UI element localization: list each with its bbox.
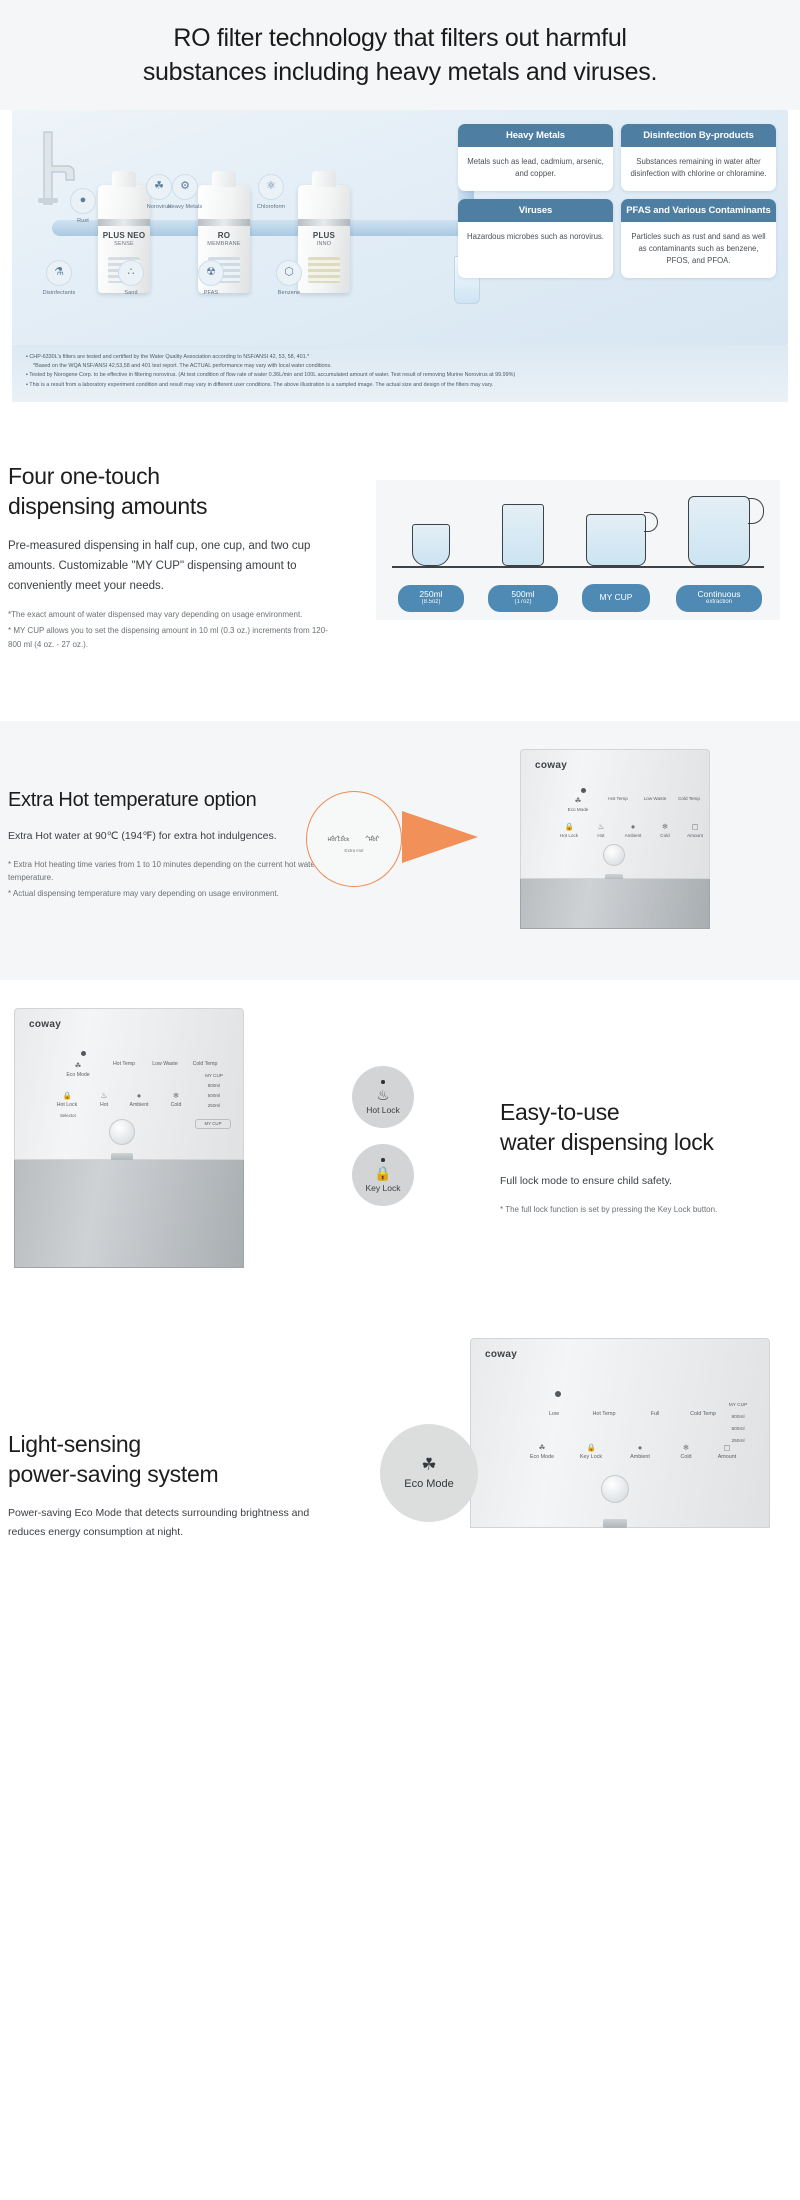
contaminant-label-benzene: Benzene	[254, 290, 324, 296]
lock-title-line-2: water dispensing lock	[500, 1129, 714, 1155]
panel-button-label: Eco Mode	[66, 1072, 89, 1078]
dispensing-text-block: Four one-touch dispensing amounts Pre-me…	[0, 462, 360, 651]
water-purifier-body-lock	[14, 1160, 244, 1268]
eco-title-line-1: Light-sensing	[8, 1431, 141, 1457]
cartridge-brand: RO	[198, 231, 250, 241]
panel-button-cold[interactable]: ❄ Cold	[163, 1091, 189, 1108]
hot-lock-icon: ♨	[377, 1088, 390, 1102]
dispensing-note-1: *The exact amount of water dispensed may…	[8, 608, 338, 622]
panel-amount-500ml[interactable]: 500ml	[197, 1093, 231, 1099]
contaminant-label-pfas: PFAS	[176, 290, 246, 296]
panel-amount-label: 800ml	[731, 1415, 744, 1420]
cartridge-label-3: PLUS INNO	[298, 231, 350, 248]
panel-button-ambient[interactable]: ● Ambient	[619, 822, 647, 839]
water-purifier-unit-hot: coway ☘ Eco Mode Hot Temp Low Waste Cold…	[520, 749, 710, 879]
leaf-icon: ☘	[538, 1443, 547, 1452]
extra-hot-note-2: * Actual dispensing temperature may vary…	[8, 887, 338, 901]
panel-amount-800ml[interactable]: 800ml	[197, 1083, 231, 1089]
card-title: Heavy Metals	[458, 124, 613, 147]
card-title: PFAS and Various Contaminants	[621, 199, 776, 222]
panel-button-label: Cold	[660, 833, 669, 838]
coway-logo: coway	[29, 1019, 61, 1030]
eco-mode-label: Eco Mode	[404, 1478, 454, 1490]
card-body: Particles such as rust and sand as well …	[621, 222, 776, 278]
pill-label: Continuous	[697, 589, 740, 599]
contaminant-label-heavy-metals: Heavy Metals	[150, 204, 220, 210]
panel-button-hot-temp[interactable]: Hot Temp	[583, 1411, 625, 1417]
panel-button-cold[interactable]: ❄ Cold	[653, 822, 677, 839]
card-pfas-contaminants: PFAS and Various Contaminants Particles …	[621, 199, 776, 278]
water-purifier-body-hot	[520, 879, 710, 929]
lock-title: Easy-to-use water dispensing lock	[500, 1098, 790, 1158]
panel-button-label: Key Lock	[580, 1454, 602, 1460]
lock-icon: 🔒	[565, 822, 574, 831]
droplet-icon: ●	[135, 1091, 144, 1100]
panel-amount-800ml[interactable]: 800ml	[719, 1415, 757, 1421]
panel-button-hot-lock[interactable]: 🔒 Hot Lock	[51, 1091, 83, 1108]
panel-button-label: Hot	[597, 833, 604, 838]
panel-button-label: Hot Temp	[608, 796, 628, 801]
contaminant-icon-rust: ●	[70, 188, 96, 214]
cartridge-band	[298, 219, 350, 226]
hero-title-line-2: substances including heavy metals and vi…	[143, 58, 657, 86]
dispense-option-500ml[interactable]: 500ml (17oz)	[488, 585, 558, 613]
panel-amount-label: 500ml	[208, 1093, 221, 1098]
cup-icon: ▢	[691, 822, 700, 831]
contaminant-icon-norovirus: ☘	[146, 174, 172, 200]
panel-button-label: Cold	[680, 1454, 691, 1460]
dispensing-note-2: * MY CUP allows you to set the dispensin…	[8, 624, 338, 651]
card-body: Hazardous microbes such as norovirus.	[458, 222, 613, 254]
panel-button-eco-mode[interactable]: ☘ Eco Mode	[521, 1443, 563, 1460]
panel-button-amount[interactable]: ▢ Amount	[681, 822, 709, 839]
dispensing-title-line-2: dispensing amounts	[8, 493, 207, 519]
snowflake-icon: ❄	[172, 1091, 181, 1100]
lock-icon: 🔒	[587, 1443, 596, 1452]
key-lock-button[interactable]: 🔒 Key Lock	[352, 1144, 414, 1206]
panel-button-label: Hot Lock	[560, 833, 578, 838]
eco-title: Light-sensing power-saving system	[8, 1430, 360, 1490]
pill-sublabel: (17oz)	[488, 599, 558, 606]
panel-button-cold-temp[interactable]: Cold Temp	[187, 1061, 223, 1067]
card-disinfection-byproducts: Disinfection By-products Substances rema…	[621, 124, 776, 191]
contaminant-label-chloroform: Chloroform	[236, 204, 306, 210]
card-body: Substances remaining in water after disi…	[621, 147, 776, 191]
filter-cartridge-3: PLUS INNO	[298, 185, 350, 293]
panel-button-label: Eco Mode	[530, 1454, 554, 1460]
dispense-option-250ml[interactable]: 250ml (8.5oz)	[398, 585, 464, 613]
key-lock-label: Key Lock	[366, 1183, 401, 1193]
contaminant-label-sand: Sand	[96, 290, 166, 296]
extra-hot-lead: Extra Hot water at 90℃ (194℉) for extra …	[8, 827, 338, 845]
vessel-500ml	[502, 504, 544, 566]
steam-icon: ♨	[597, 822, 606, 831]
disclaimer-line-2: *Based on the WQA NSF/ANSI 42,53,58 and …	[26, 362, 774, 371]
dispense-option-continuous[interactable]: Continuous extraction	[676, 585, 762, 613]
panel-button-amount[interactable]: ▢ Amount	[707, 1443, 747, 1460]
panel-button-label: Cold	[171, 1102, 182, 1108]
card-title: Viruses	[458, 199, 613, 222]
panel-amount-my-cup[interactable]: MY CUP	[719, 1403, 757, 1409]
panel-amount-label: 250ml	[731, 1439, 744, 1444]
vessel-my-cup	[586, 514, 646, 566]
padlock-icon: 🔒	[374, 1166, 391, 1180]
filter-diagram-section: PLUS NEO SENSE RO MEMBRANE PLUS INNO	[0, 110, 800, 403]
mug-handle-icon	[644, 512, 658, 532]
panel-amount-250ml[interactable]: 250ml	[197, 1103, 231, 1109]
contaminant-icon-pfas: ☢	[198, 260, 224, 286]
panel-button-hot-lock[interactable]: 🔒 Hot Lock	[555, 822, 583, 839]
snowflake-icon: ❄	[661, 822, 670, 831]
panel-amount-my-cup[interactable]: MY CUP	[197, 1073, 231, 1079]
leaf-icon: ☘	[74, 1061, 83, 1070]
filter-disclaimer: ▪ CHP-6330L's filters are tested and cer…	[12, 345, 788, 403]
eco-lead: Power-saving Eco Mode that detects surro…	[8, 1504, 338, 1541]
panel-button-hot[interactable]: ♨ Hot	[589, 822, 613, 839]
panel-button-ambient[interactable]: ● Ambient	[123, 1091, 155, 1108]
cartridge-brand: PLUS	[298, 231, 350, 241]
dispensing-illustration: 250ml (8.5oz) 500ml (17oz) MY CUP Contin…	[376, 480, 780, 620]
panel-amount-label: MY CUP	[729, 1403, 748, 1408]
counter-line	[392, 566, 764, 568]
callout-label: Hot Lock	[328, 837, 350, 843]
panel-button-label: Ambient	[630, 1454, 650, 1460]
hero-section: RO filter technology that filters out ha…	[0, 0, 800, 110]
hot-lock-label: Hot Lock	[366, 1105, 400, 1115]
panel-button-low[interactable]: Low	[533, 1411, 575, 1417]
panel-button-ambient[interactable]: ● Ambient	[619, 1443, 661, 1460]
panel-button-label: Full	[651, 1411, 660, 1417]
cartridge-band	[198, 219, 250, 226]
card-heavy-metals: Heavy Metals Metals such as lead, cadmiu…	[458, 124, 613, 191]
cartridge-model: MEMBRANE	[207, 241, 240, 247]
contaminant-icon-benzene: ⬡	[276, 260, 302, 286]
eco-title-line-2: power-saving system	[8, 1461, 218, 1487]
cartridge-brand: PLUS NEO	[98, 231, 150, 241]
steam-icon: ♨	[100, 1091, 109, 1100]
cartridge-model: INNO	[317, 241, 332, 247]
lock-icon: 🔒	[63, 1091, 72, 1100]
panel-button-label: Cold Temp	[690, 1411, 716, 1417]
snowflake-icon: ❄	[682, 1443, 691, 1452]
cartridge-grille	[308, 257, 340, 283]
indicator-dot-icon	[381, 1080, 385, 1084]
dispensing-lock-section: coway ☘ Eco Mode Hot Temp Low Waste Cold…	[0, 980, 800, 1320]
hot-lock-button[interactable]: ♨ Hot Lock	[352, 1066, 414, 1128]
lock-lead: Full lock mode to ensure child safety.	[500, 1172, 790, 1190]
panel-button-label: Hot Temp	[593, 1411, 616, 1417]
card-viruses: Viruses Hazardous microbes such as norov…	[458, 199, 613, 278]
indicator-dot-icon	[381, 1158, 385, 1162]
contaminant-icon-heavy-metals: ⚙	[172, 174, 198, 200]
product-feature-page: RO filter technology that filters out ha…	[0, 0, 800, 1620]
panel-amount-label: 250ml	[208, 1103, 221, 1108]
contaminant-icon-sand: ∴	[118, 260, 144, 286]
panel-button-cold-temp[interactable]: Cold Temp	[673, 796, 705, 802]
panel-button-label: Ambient	[625, 833, 642, 838]
card-body: Metals such as lead, cadmium, arsenic, a…	[458, 147, 613, 191]
panel-button-low-waste[interactable]: Low Waste	[639, 796, 671, 802]
light-sensor-icon	[581, 788, 586, 793]
panel-amount-label: 500ml	[731, 1427, 744, 1432]
coway-logo: coway	[485, 1349, 517, 1360]
panel-button-hot-temp[interactable]: Hot Temp	[107, 1061, 141, 1067]
pitcher-handle-icon	[748, 498, 764, 524]
panel-button-label: Hot Temp	[113, 1061, 135, 1067]
dispense-spout	[603, 1519, 627, 1528]
water-purifier-unit-lock: coway ☘ Eco Mode Hot Temp Low Waste Cold…	[14, 1008, 244, 1160]
light-sensor-icon	[81, 1051, 86, 1056]
panel-button-label: Hot	[100, 1102, 108, 1108]
extra-hot-title: Extra Hot temperature option	[8, 787, 360, 813]
pill-label: 500ml	[511, 589, 534, 599]
eco-text-block: Light-sensing power-saving system Power-…	[0, 1376, 360, 1580]
panel-amount-label: 800ml	[208, 1083, 221, 1088]
water-purifier-unit-eco: coway Low Hot Temp Full Cold Temp ☘ Eco …	[470, 1338, 770, 1528]
panel-button-key-lock[interactable]: 🔒 Key Lock	[571, 1443, 611, 1460]
panel-button-label: Eco Mode	[568, 807, 589, 812]
contaminant-icon-disinfectants: ⚗	[46, 260, 72, 286]
panel-button-label: Ambient	[129, 1102, 148, 1108]
panel-button-label: Amount	[718, 1454, 737, 1460]
panel-button-cold[interactable]: ❄ Cold	[669, 1443, 703, 1460]
panel-button-low-waste[interactable]: Low Waste	[147, 1061, 183, 1067]
pill-sublabel: extraction	[676, 599, 762, 606]
steam-icon: ‸‸‸	[365, 825, 380, 837]
panel-button-hot[interactable]: ♨ Hot	[91, 1091, 117, 1108]
dispense-dial-button[interactable]	[109, 1119, 135, 1145]
pill-label: 250ml	[419, 589, 442, 599]
light-sensing-section: Light-sensing power-saving system Power-…	[0, 1320, 800, 1620]
panel-button-label: Hot Lock	[57, 1102, 77, 1108]
dispensing-amounts-section: Four one-touch dispensing amounts Pre-me…	[0, 402, 800, 721]
lock-note: * The full lock function is set by press…	[500, 1203, 790, 1217]
disclaimer-line-4: ▪ This is a result from a laboratory exp…	[26, 381, 774, 390]
callout-sublabel: Extra Hot	[344, 848, 363, 853]
dispensing-lead: Pre-measured dispensing in half cup, one…	[8, 536, 338, 596]
cartridge-label-2: RO MEMBRANE	[198, 231, 250, 248]
pill-sublabel: (8.5oz)	[398, 599, 464, 606]
cartridge-label-1: PLUS NEO SENSE	[98, 231, 150, 248]
dispensing-title: Four one-touch dispensing amounts	[8, 462, 360, 522]
lock-button-callouts: ♨ Hot Lock 🔒 Key Lock	[352, 1066, 414, 1222]
panel-button-label: Low	[549, 1411, 559, 1417]
zoom-cone	[402, 811, 478, 863]
pill-label: MY CUP	[600, 592, 633, 602]
disclaimer-line-3: ▪ Tested by Norogene Corp. to be effecti…	[26, 371, 774, 380]
droplet-icon: ●	[629, 822, 638, 831]
panel-button-hot-temp[interactable]: Hot Temp	[603, 796, 633, 802]
contaminant-icon-chloroform: ⚛	[258, 174, 284, 200]
panel-selector-label: Selector	[51, 1113, 85, 1118]
panel-mycup-chip[interactable]: MY CUP	[195, 1119, 231, 1128]
panel-amount-500ml[interactable]: 500ml	[719, 1427, 757, 1433]
lock-title-line-1: Easy-to-use	[500, 1099, 619, 1125]
panel-button-label: Cold Temp	[678, 796, 700, 801]
callout-hot: ‸‸‸ Hot	[365, 825, 380, 843]
panel-button-full[interactable]: Full	[635, 1411, 675, 1417]
panel-amount-250ml[interactable]: 250ml	[719, 1439, 757, 1445]
filter-diagram: PLUS NEO SENSE RO MEMBRANE PLUS INNO	[12, 110, 788, 345]
light-sensor-icon	[555, 1391, 561, 1397]
callout-row: ‸‸‸ Hot Lock ‸‸‸ Hot	[328, 825, 381, 843]
dispense-dial-button[interactable]	[601, 1475, 629, 1503]
extra-hot-section: Extra Hot temperature option Extra Hot w…	[0, 721, 800, 980]
dispense-dial-button[interactable]	[603, 844, 625, 866]
callout-label: Hot	[369, 837, 378, 843]
droplet-icon: ●	[636, 1443, 645, 1452]
card-title: Disinfection By-products	[621, 124, 776, 147]
callout-hot-lock: ‸‸‸ Hot Lock	[328, 825, 350, 843]
panel-button-eco-mode[interactable]: ☘ Eco Mode	[561, 796, 595, 813]
extra-hot-callout: ‸‸‸ Hot Lock ‸‸‸ Hot Extra Hot	[306, 791, 402, 887]
vessel-250ml	[412, 524, 450, 566]
contaminant-label-rust: Rust	[48, 218, 118, 224]
steam-icon: ‸‸‸	[328, 825, 350, 837]
extra-hot-note-1: * Extra Hot heating time varies from 1 t…	[8, 858, 338, 885]
eco-mode-callout: ☘ Eco Mode	[380, 1424, 478, 1522]
leaf-icon: ☘	[574, 796, 583, 805]
hero-title-line-1: RO filter technology that filters out ha…	[173, 24, 626, 52]
panel-button-eco-mode[interactable]: ☘ Eco Mode	[59, 1061, 97, 1078]
panel-button-label: Low Waste	[644, 796, 667, 801]
dispensing-title-line-1: Four one-touch	[8, 463, 160, 489]
panel-button-label: Low Waste	[152, 1061, 177, 1067]
cartridge-model: SENSE	[114, 241, 134, 247]
lock-text-block: Easy-to-use water dispensing lock Full l…	[500, 1098, 790, 1216]
contaminant-label-disinfectants: Disinfectants	[24, 290, 94, 296]
panel-button-label: Amount	[687, 833, 703, 838]
contaminant-cards: Heavy Metals Metals such as lead, cadmiu…	[458, 124, 776, 278]
page-title: RO filter technology that filters out ha…	[40, 22, 760, 90]
leaf-icon: ☘	[421, 1456, 436, 1473]
vessel-pitcher	[688, 496, 750, 566]
coway-logo: coway	[535, 760, 567, 771]
disclaimer-line-1: ▪ CHP-6330L's filters are tested and cer…	[26, 353, 774, 362]
panel-amount-label: MY CUP	[205, 1073, 223, 1078]
dispense-option-my-cup[interactable]: MY CUP	[582, 584, 650, 613]
panel-button-label: Cold Temp	[193, 1061, 218, 1067]
